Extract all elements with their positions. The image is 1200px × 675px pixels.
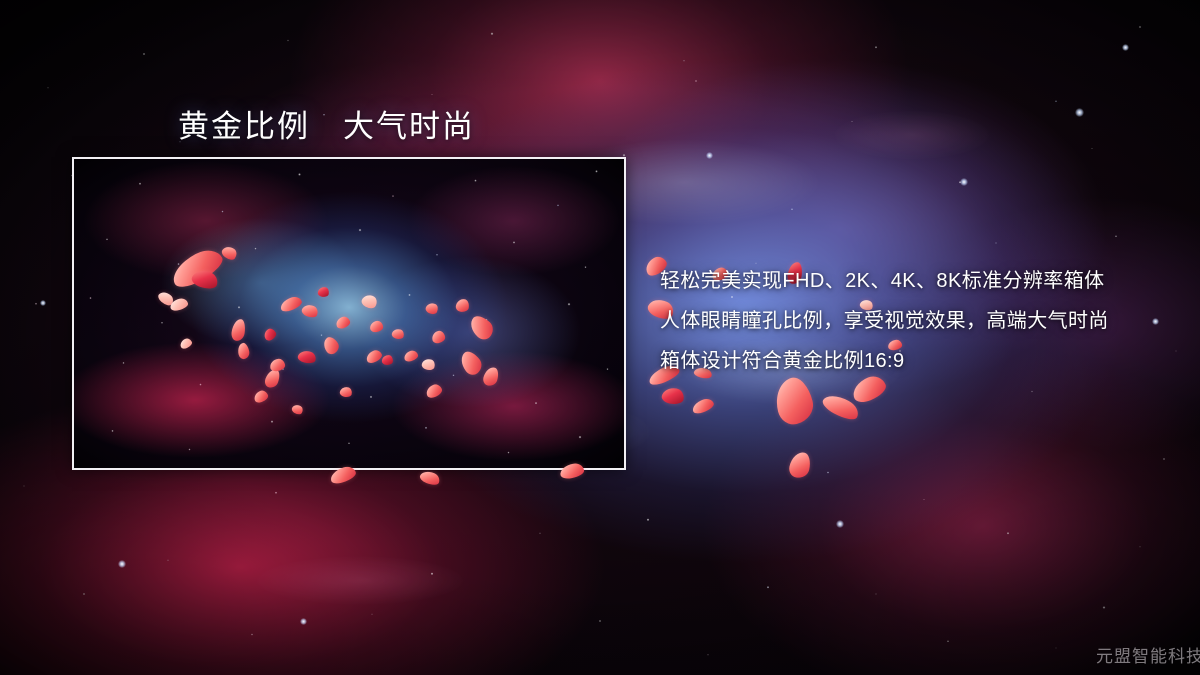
body-line: 人体眼睛瞳孔比例，享受视觉效果，高端大气时尚 (660, 301, 1109, 341)
body-line: 箱体设计符合黄金比例16:9 (660, 341, 1109, 381)
star-glow (706, 152, 713, 159)
photo-image (74, 159, 624, 468)
star-glow (118, 560, 126, 568)
watermark-text: 元盟智能科技 (1096, 642, 1200, 667)
star-glow (40, 300, 46, 306)
star-glow (960, 178, 968, 186)
star-glow (1152, 318, 1159, 325)
framed-photo (72, 157, 626, 470)
body-line: 轻松完美实现FHD、2K、4K、8K标准分辨率箱体 (660, 261, 1109, 301)
slide-title: 黄金比例 大气时尚 (178, 101, 475, 146)
star-glow (1075, 108, 1084, 117)
photo-starfield (74, 159, 624, 468)
body-text-block: 轻松完美实现FHD、2K、4K、8K标准分辨率箱体 人体眼睛瞳孔比例，享受视觉效… (660, 261, 1109, 381)
star-glow (1122, 44, 1129, 51)
star-glow (836, 520, 844, 528)
slide-canvas: 黄金比例 大气时尚 (0, 0, 1200, 675)
star-glow (300, 618, 307, 625)
